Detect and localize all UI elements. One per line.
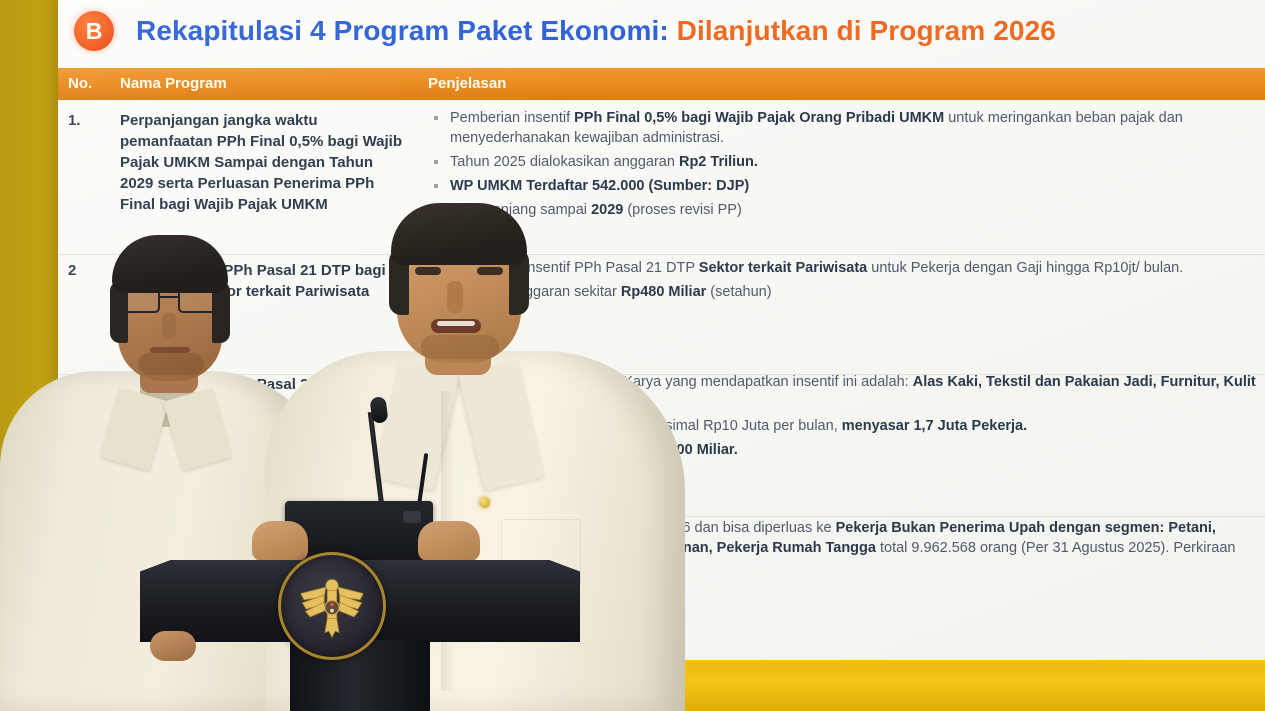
person-right-nose xyxy=(447,281,463,313)
row-number: 1. xyxy=(68,112,81,129)
person-left-mouth xyxy=(150,347,190,353)
column-header-penjelasan: Penjelasan xyxy=(428,75,506,92)
person-left-collar-left xyxy=(99,387,169,471)
person-right-eye-right xyxy=(477,267,503,275)
column-header-nama-program: Nama Program xyxy=(120,75,227,92)
description-bullet: Pemberian insentif PPh Final 0,5% bagi W… xyxy=(428,108,1263,148)
section-badge-b: B xyxy=(74,11,114,51)
podium xyxy=(140,536,580,711)
person-right-eye-left xyxy=(415,267,441,275)
person-left-collar-right xyxy=(163,387,233,471)
person-left-hair xyxy=(112,235,228,293)
person-right-lapel-pin-icon xyxy=(479,497,490,508)
table-header-row: No. Nama Program Penjelasan xyxy=(58,68,1265,100)
slide-title: Rekapitulasi 4 Program Paket Ekonomi: Di… xyxy=(136,15,1056,47)
hand-lower-left xyxy=(150,631,196,661)
screenshot-stage: B Rekapitulasi 4 Program Paket Ekonomi: … xyxy=(0,0,1265,711)
person-left-nose xyxy=(162,313,176,339)
garuda-pancasila-emblem-icon xyxy=(278,552,386,660)
laptop-camera-icon xyxy=(403,511,421,523)
column-header-no: No. xyxy=(68,75,92,92)
person-left-chin-shadow xyxy=(138,353,204,375)
person-right-teeth xyxy=(437,321,475,326)
slide-title-highlight: Dilanjutkan di Program 2026 xyxy=(677,15,1056,46)
person-right-hair xyxy=(391,203,527,265)
person-right-chin-shadow xyxy=(421,335,499,359)
person-right-collar-right xyxy=(458,360,545,491)
glasses-bridge xyxy=(160,296,178,298)
slide-title-main: Rekapitulasi 4 Program Paket Ekonomi: xyxy=(136,15,669,46)
slide-title-row: B Rekapitulasi 4 Program Paket Ekonomi: … xyxy=(58,2,1265,60)
